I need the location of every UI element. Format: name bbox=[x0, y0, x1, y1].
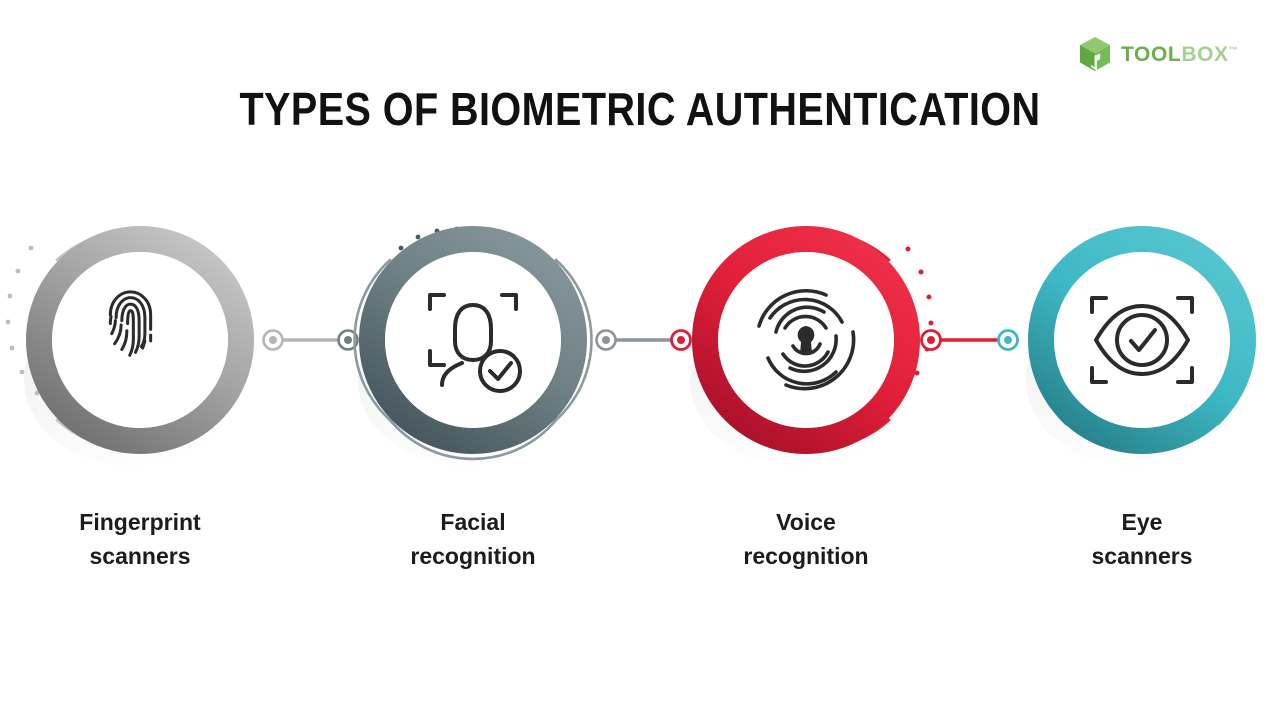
green-cube-icon bbox=[1078, 36, 1112, 72]
biometric-flow-diagram bbox=[0, 175, 1280, 515]
label-facial-recognition: Facial recognition bbox=[343, 505, 603, 573]
label-line-2: recognition bbox=[676, 539, 936, 573]
label-eye-scanners: Eye scanners bbox=[1012, 505, 1272, 573]
label-fingerprint-scanners: Fingerprint scanners bbox=[10, 505, 270, 573]
label-line-2: recognition bbox=[343, 539, 603, 573]
label-line-1: Eye bbox=[1122, 509, 1163, 535]
step-disc bbox=[385, 252, 561, 428]
label-line-1: Fingerprint bbox=[79, 509, 200, 535]
brand-logo: TOOLBOX™ bbox=[1078, 36, 1238, 72]
step-facial[interactable] bbox=[355, 227, 592, 466]
brand-name-bold: TOOL bbox=[1121, 43, 1181, 66]
step-voice[interactable] bbox=[690, 232, 934, 466]
label-line-1: Voice bbox=[776, 509, 836, 535]
step-fingerprint[interactable] bbox=[6, 232, 241, 466]
infographic-canvas: TOOLBOX™ TYPES OF BIOMETRIC AUTHENTICATI… bbox=[0, 0, 1280, 720]
trademark-symbol: ™ bbox=[1229, 45, 1239, 55]
page-title: TYPES OF BIOMETRIC AUTHENTICATION bbox=[90, 82, 1191, 136]
brand-name-light: BOX bbox=[1181, 43, 1228, 66]
step-labels: Fingerprint scanners Facial recognition … bbox=[0, 505, 1280, 595]
label-line-2: scanners bbox=[1012, 539, 1272, 573]
connector-1-2 bbox=[264, 331, 358, 350]
connector-3-4 bbox=[922, 331, 1018, 350]
step-disc bbox=[1054, 252, 1230, 428]
label-voice-recognition: Voice recognition bbox=[676, 505, 936, 573]
label-line-1: Facial bbox=[440, 509, 505, 535]
brand-wordmark: TOOLBOX™ bbox=[1121, 44, 1238, 65]
label-line-2: scanners bbox=[10, 539, 270, 573]
step-eye[interactable] bbox=[1026, 239, 1250, 466]
connector-2-3 bbox=[597, 331, 691, 350]
